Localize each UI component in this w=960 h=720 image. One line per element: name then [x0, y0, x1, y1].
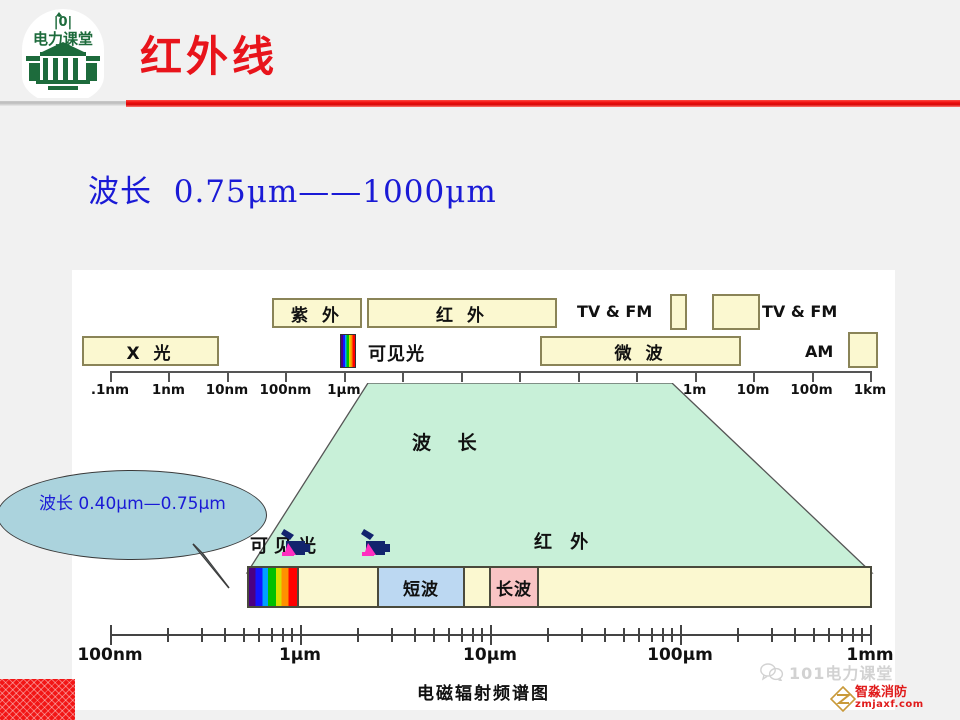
- top-band-box-1: 红 外: [367, 298, 557, 328]
- ruler-minor-tick: [224, 628, 226, 642]
- scale-tick: [695, 371, 697, 382]
- top-band-text-1: TV & FM: [762, 302, 837, 321]
- top-band-box-3: [712, 294, 760, 330]
- ruler-minor-tick: [357, 628, 359, 642]
- scale-tick: [461, 371, 463, 382]
- top-band-box-0: 紫 外: [272, 298, 362, 328]
- detail-segment-near-ir: [297, 568, 377, 606]
- detail-segment-short-wave: 短波: [377, 568, 463, 606]
- ruler-minor-tick: [861, 628, 863, 642]
- header-rule-red: [126, 100, 960, 107]
- ruler-minor-tick: [472, 628, 474, 642]
- scale-tick: [519, 371, 521, 382]
- log-ruler: [110, 625, 870, 645]
- logo-icon: |0| 电力课堂: [12, 6, 114, 98]
- detail-segment-mid-gap: [463, 568, 489, 606]
- decorative-hatch-block: [0, 679, 75, 720]
- ruler-minor-tick: [391, 628, 393, 642]
- ruler-major-tick: [490, 625, 492, 645]
- ruler-major-tick: [110, 625, 112, 645]
- lower-band-label-1: 红 外: [534, 528, 594, 554]
- brand-badge-icon: [830, 686, 856, 712]
- second-band-box-0: X 光: [82, 336, 219, 366]
- scale-tick: [227, 371, 229, 382]
- ruler-minor-tick: [433, 628, 435, 642]
- ruler-tick-label: 10μm: [463, 645, 517, 665]
- ruler-major-tick: [680, 625, 682, 645]
- ruler-minor-tick: [461, 628, 463, 642]
- ruler-minor-tick: [448, 628, 450, 642]
- ruler-minor-tick: [282, 628, 284, 642]
- ruler-minor-tick: [794, 628, 796, 642]
- ruler-tick-label: 1μm: [279, 645, 321, 665]
- ruler-minor-tick: [167, 628, 169, 642]
- ruler-minor-tick: [604, 628, 606, 642]
- slide-root: |0| 电力课堂 红外线 波长 0.75μm——1000μm: [0, 0, 960, 720]
- subtitle-value: 0.75μm——1000μm: [174, 174, 497, 210]
- ruler-tick-label: 100nm: [77, 645, 142, 665]
- callout-tail-icon: [0, 470, 287, 590]
- ruler-minor-tick: [414, 628, 416, 642]
- ruler-minor-tick: [651, 628, 653, 642]
- scale-tick: [402, 371, 404, 382]
- visible-light-chip-icon: [340, 334, 356, 368]
- ruler-minor-tick: [662, 628, 664, 642]
- brand-domain: zmjaxf.com: [855, 700, 924, 711]
- ruler-minor-tick: [481, 628, 483, 642]
- camera-icon-longwave: [355, 528, 393, 558]
- ruler-minor-tick: [291, 628, 293, 642]
- subtitle-label: 波长: [88, 174, 152, 210]
- ruler-minor-tick: [852, 628, 854, 642]
- top-band-text-0: TV & FM: [577, 302, 652, 321]
- svg-text:|0|: |0|: [54, 15, 73, 30]
- page-title: 红外线: [140, 36, 278, 78]
- second-band-text-1: AM: [805, 342, 833, 361]
- scale-tick: [285, 371, 287, 382]
- ruler-minor-tick: [638, 628, 640, 642]
- top-band-box-2: [670, 294, 687, 330]
- ruler-minor-tick: [813, 628, 815, 642]
- ruler-minor-tick: [623, 628, 625, 642]
- scale-tick: [168, 371, 170, 382]
- scale-tick: [636, 371, 638, 382]
- second-band-box-2: [848, 332, 878, 368]
- wechat-icon: [760, 663, 784, 681]
- ruler-minor-tick: [771, 628, 773, 642]
- ruler-minor-tick: [581, 628, 583, 642]
- wavelength-subtitle: 波长 0.75μm——1000μm: [88, 166, 497, 211]
- brand-name: 智淼消防: [855, 686, 924, 700]
- callout-text: 波长 0.40μm—0.75μm: [39, 492, 254, 517]
- scale-tick: [578, 371, 580, 382]
- ruler-minor-tick: [547, 628, 549, 642]
- ruler-major-tick: [300, 625, 302, 645]
- ruler-tick-label: 100μm: [647, 645, 713, 665]
- brand-watermark: 智淼消防 zmjaxf.com: [855, 686, 924, 710]
- scale-tick: [753, 371, 755, 382]
- ruler-major-tick: [870, 625, 872, 645]
- wechat-watermark: 101电力课堂: [760, 660, 893, 684]
- ruler-minor-tick: [271, 628, 273, 642]
- scale-tick: [812, 371, 814, 382]
- wechat-watermark-text: 101电力课堂: [789, 660, 893, 684]
- second-band-box-1: 微 波: [540, 336, 741, 366]
- ruler-minor-tick: [737, 628, 739, 642]
- logo: |0| 电力课堂: [12, 6, 114, 98]
- ruler-minor-tick: [841, 628, 843, 642]
- infrared-detail-bar: 短波长波: [247, 566, 872, 608]
- header-rule-grey: [0, 101, 128, 106]
- wavelength-callout: 波长 0.40μm—0.75μm: [0, 470, 287, 590]
- scale-tick: [110, 371, 112, 382]
- ruler-minor-tick: [258, 628, 260, 642]
- detail-segment-far-ir: [537, 568, 870, 606]
- ruler-minor-tick: [243, 628, 245, 642]
- detail-segment-long-wave: 长波: [489, 568, 537, 606]
- scale-tick: [344, 371, 346, 382]
- second-band-text-0: 可见光: [368, 340, 425, 366]
- ruler-minor-tick: [201, 628, 203, 642]
- scale-axis-line: [110, 371, 870, 373]
- ruler-minor-tick: [671, 628, 673, 642]
- trapezoid-label: 波 长: [412, 428, 487, 455]
- scale-tick: [870, 371, 872, 382]
- ruler-minor-tick: [828, 628, 830, 642]
